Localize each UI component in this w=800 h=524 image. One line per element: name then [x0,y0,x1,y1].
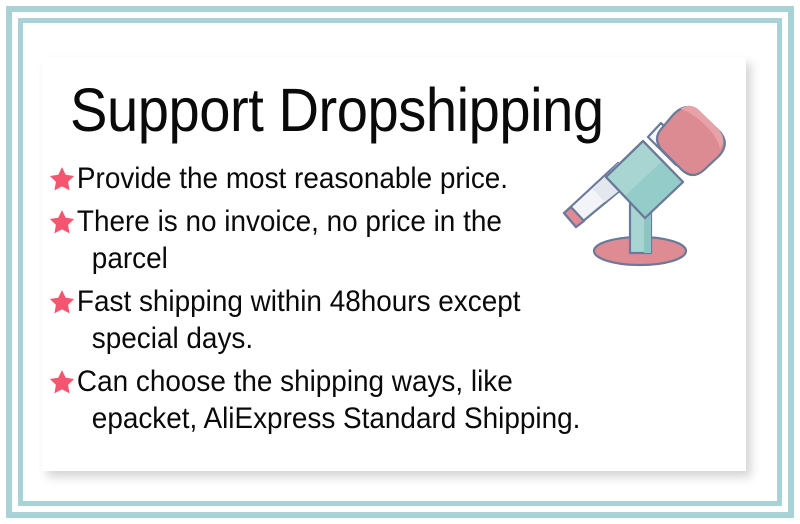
list-item-line1: There is no invoice, no price in the [77,205,502,238]
list-item: Can choose the shipping ways, like epack… [48,363,648,437]
star-icon [48,367,76,397]
dropshipping-banner: Support Dropshipping Provide the most re… [0,0,800,524]
list-item-line1: Provide the most reasonable price. [77,162,508,195]
list-item-text: Provide the most reasonable price. [76,160,508,197]
list-item-line2: epacket, AliExpress Standard Shipping. [77,400,580,437]
content-card: Support Dropshipping Provide the most re… [42,57,746,471]
star-icon [48,207,76,237]
list-item-line2: parcel [77,240,502,277]
list-item-text: Fast shipping within 48hours except spec… [76,283,520,357]
list-item-text: There is no invoice, no price in the par… [76,203,502,277]
list-item-line1: Fast shipping within 48hours except [77,285,521,318]
star-icon [48,164,76,194]
list-item-line1: Can choose the shipping ways, like [77,365,513,398]
microphone-icon [552,79,732,279]
star-icon [48,287,76,317]
list-item-text: Can choose the shipping ways, like epack… [76,363,580,437]
list-item-line2: special days. [77,320,521,357]
page-title: Support Dropshipping [70,75,604,145]
list-item: Fast shipping within 48hours except spec… [48,283,648,357]
